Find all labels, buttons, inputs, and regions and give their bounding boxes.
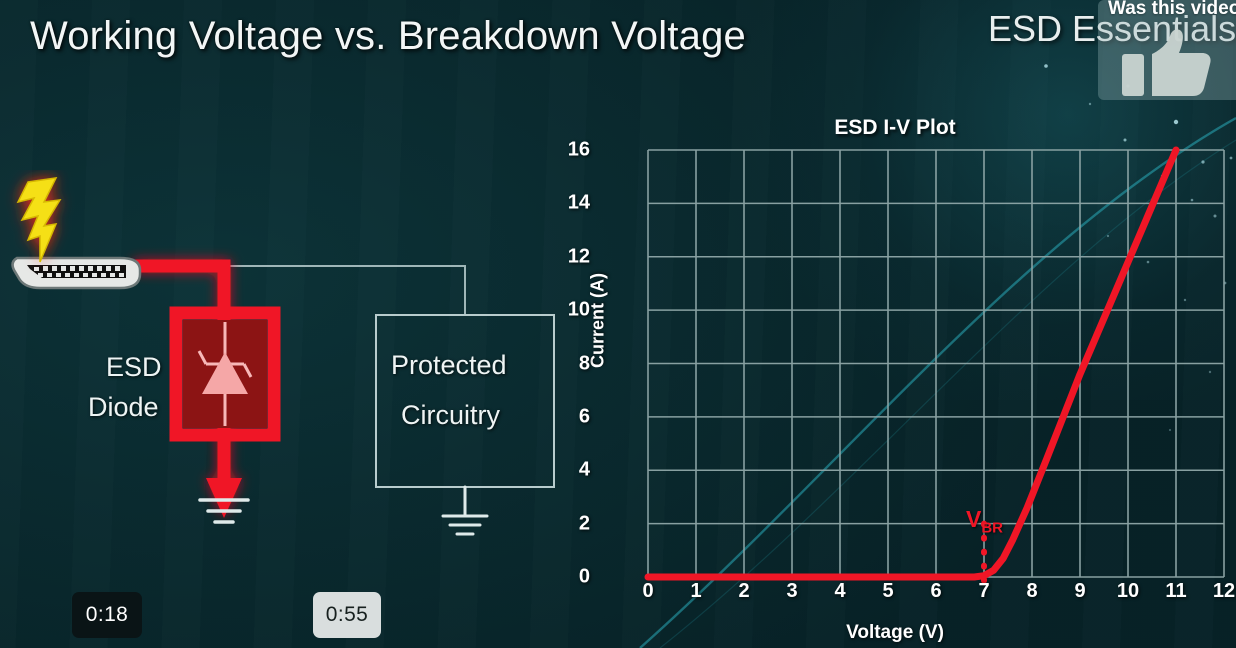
esd-diode-label-line2: Diode (88, 392, 159, 423)
hdmi-port-icon (13, 258, 140, 288)
chart-y-tick: 10 (550, 299, 590, 322)
esd-iv-chart: ESD I-V Plot Current (A) Voltage (V) 024… (580, 110, 1236, 648)
protected-circuitry-label-line2: Circuitry (401, 400, 500, 431)
protected-circuitry-label-line1: Protected (391, 350, 507, 381)
vbr-subscript: BR (981, 520, 1003, 537)
chart-x-tick: 2 (727, 580, 761, 603)
chart-x-axis-label: Voltage (V) (580, 622, 1210, 644)
esd-diode-label-line1: ESD (106, 352, 162, 383)
lightning-bolt-icon (18, 178, 60, 262)
chart-gridlines (648, 150, 1224, 577)
chart-x-tick: 0 (631, 580, 665, 603)
survey-prompt: Was this video (1108, 0, 1236, 20)
ground-symbol-circuitry (443, 487, 487, 534)
chart-x-tick: 10 (1111, 580, 1145, 603)
chart-y-tick: 4 (550, 459, 590, 482)
chart-y-tick: 0 (550, 566, 590, 589)
chart-plot-area (580, 110, 1236, 648)
vbr-symbol: V (966, 506, 981, 532)
video-survey-overlay[interactable]: Was this video (1098, 0, 1236, 100)
chart-y-axis-label: Current (A) (588, 251, 609, 391)
timestamp-badge-current[interactable]: 0:18 (72, 592, 142, 638)
chart-x-tick: 12 (1207, 580, 1236, 603)
chart-y-tick: 8 (550, 352, 590, 375)
chart-x-tick: 6 (919, 580, 953, 603)
esd-diode-symbol (176, 313, 274, 435)
chart-x-tick: 3 (775, 580, 809, 603)
chart-y-tick: 14 (550, 192, 590, 215)
chart-x-tick: 1 (679, 580, 713, 603)
chart-x-tick: 7 (967, 580, 1001, 603)
chart-y-tick: 6 (550, 405, 590, 428)
chart-x-tick: 9 (1063, 580, 1097, 603)
esd-protection-circuit: ESD Diode Protected Circuitry (0, 170, 580, 560)
timestamp-badge-total[interactable]: 0:55 (313, 592, 381, 638)
chart-y-tick: 2 (550, 512, 590, 535)
chart-x-tick: 8 (1015, 580, 1049, 603)
chart-x-tick: 5 (871, 580, 905, 603)
page-title: Working Voltage vs. Breakdown Voltage (30, 14, 746, 59)
chart-x-tick: 11 (1159, 580, 1193, 603)
chart-x-tick: 4 (823, 580, 857, 603)
chart-y-tick: 12 (550, 245, 590, 268)
vbr-annotation-label: VBR (966, 506, 1003, 537)
slide-canvas: Working Voltage vs. Breakdown Voltage ES… (0, 0, 1236, 648)
thumbs-up-icon[interactable] (1122, 28, 1216, 98)
chart-title: ESD I-V Plot (580, 116, 1210, 140)
chart-y-tick: 16 (550, 139, 590, 162)
